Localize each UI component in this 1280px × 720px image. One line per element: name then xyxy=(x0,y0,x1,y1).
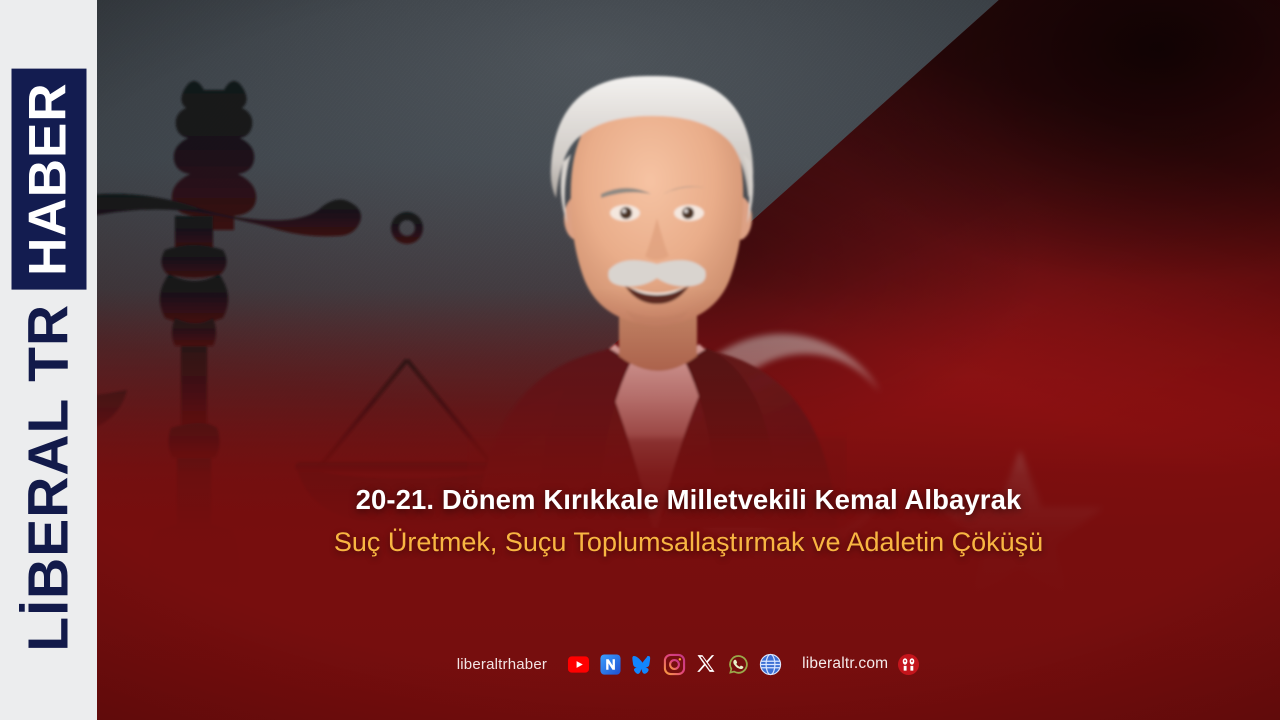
brand-rail: LİBERAL TR HABER xyxy=(0,0,97,720)
portrait-kemal-albayrak xyxy=(467,58,847,528)
page-title: 20-21. Dönem Kırıkkale Milletvekili Kema… xyxy=(137,484,1240,516)
brand-name-primary: LİBERAL TR xyxy=(20,304,77,652)
social-footer: liberaltrhaber xyxy=(97,648,1280,680)
globe-icon[interactable] xyxy=(759,653,782,676)
x-twitter-icon[interactable] xyxy=(695,653,718,676)
news-n-icon[interactable] xyxy=(599,653,622,676)
poster-canvas: 20-21. Dönem Kırıkkale Milletvekili Kema… xyxy=(0,0,1280,720)
website-url[interactable]: liberaltr.com xyxy=(802,655,888,673)
bluesky-icon[interactable] xyxy=(631,653,654,676)
caption-block: 20-21. Dönem Kırıkkale Milletvekili Kema… xyxy=(97,484,1280,559)
whatsapp-icon[interactable] xyxy=(727,653,750,676)
instagram-icon[interactable] xyxy=(663,653,686,676)
youtube-icon[interactable] xyxy=(567,653,590,676)
artwork-area xyxy=(97,0,1280,720)
article-subtitle: Suç Üretmek, Suçu Toplumsallaştırmak ve … xyxy=(137,525,1240,560)
brand-name-secondary-box: HABER xyxy=(11,68,86,289)
social-handle: liberaltrhaber xyxy=(457,656,547,673)
brand-logo[interactable]: LİBERAL TR HABER xyxy=(11,68,86,651)
liberaltr-seal-icon[interactable] xyxy=(897,653,920,676)
brand-name-secondary: HABER xyxy=(18,82,77,275)
